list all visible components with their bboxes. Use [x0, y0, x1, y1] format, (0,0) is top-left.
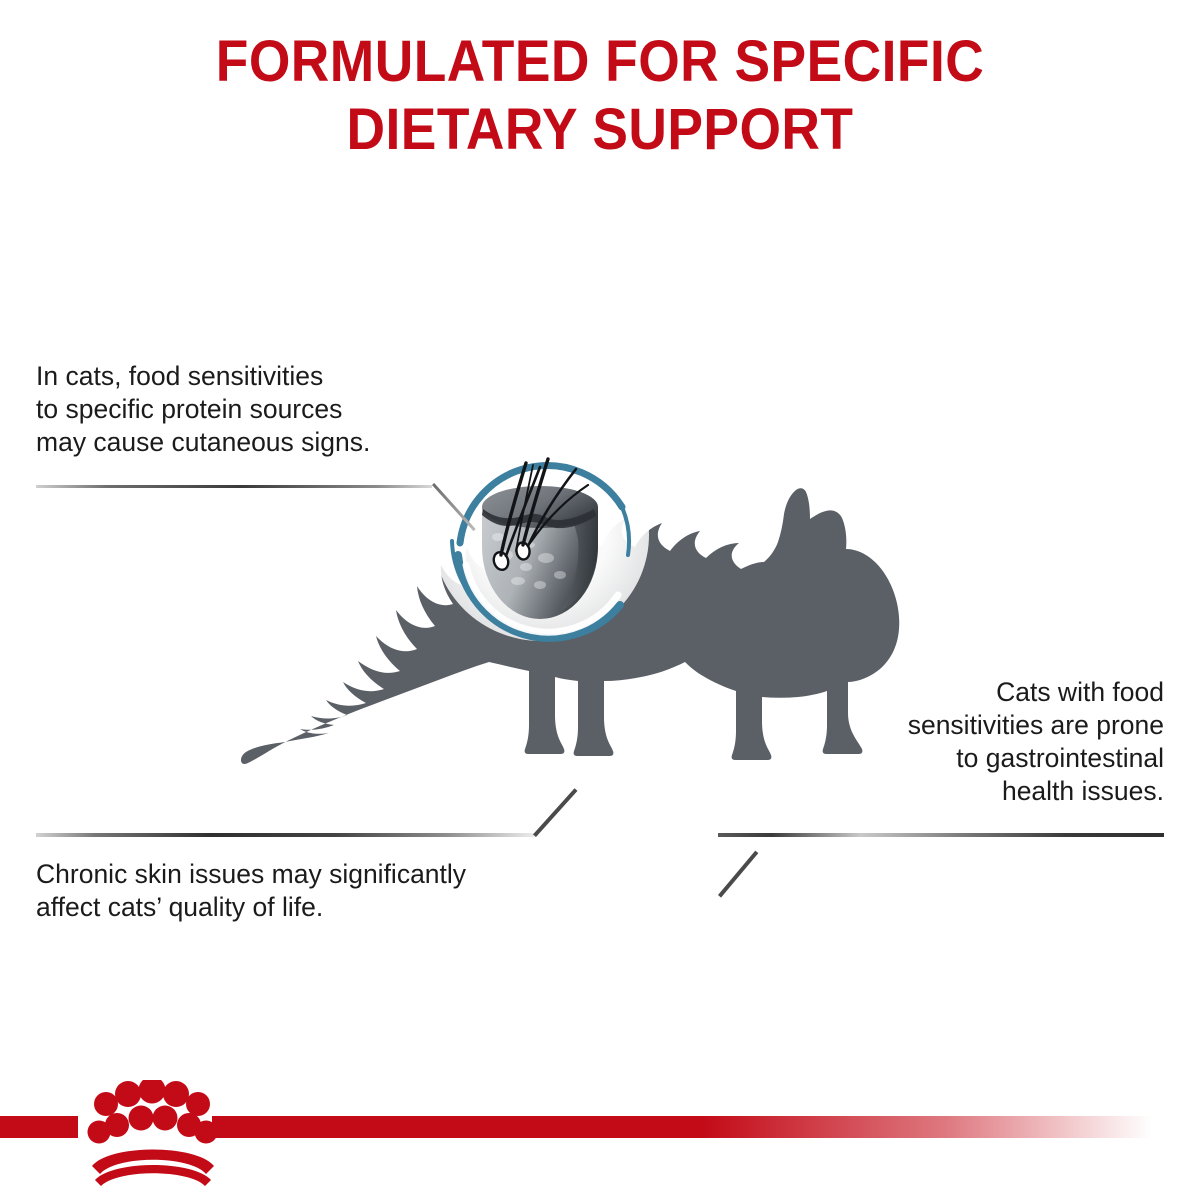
callout-text-gastrointestinal: Cats with food sensitivities are prone t…: [804, 676, 1164, 808]
footer-bar-right: [212, 1116, 1152, 1138]
callout-text-chronic-skin: Chronic skin issues may significantly af…: [36, 858, 676, 924]
leader-line-gastrointestinal: [674, 833, 1174, 893]
footer-bar-left: [0, 1116, 78, 1138]
royal-canin-crown-logo: [88, 1080, 218, 1186]
footer-brand-bar: [0, 1080, 1200, 1200]
page-title: FORMULATED FOR SPECIFIC DIETARY SUPPORT: [48, 28, 1152, 164]
leader-line-skin: [36, 485, 496, 545]
callout-text-skin: In cats, food sensitivities to specific …: [36, 360, 466, 459]
infographic-canvas: FORMULATED FOR SPECIFIC DIETARY SUPPORT: [0, 0, 1200, 1200]
